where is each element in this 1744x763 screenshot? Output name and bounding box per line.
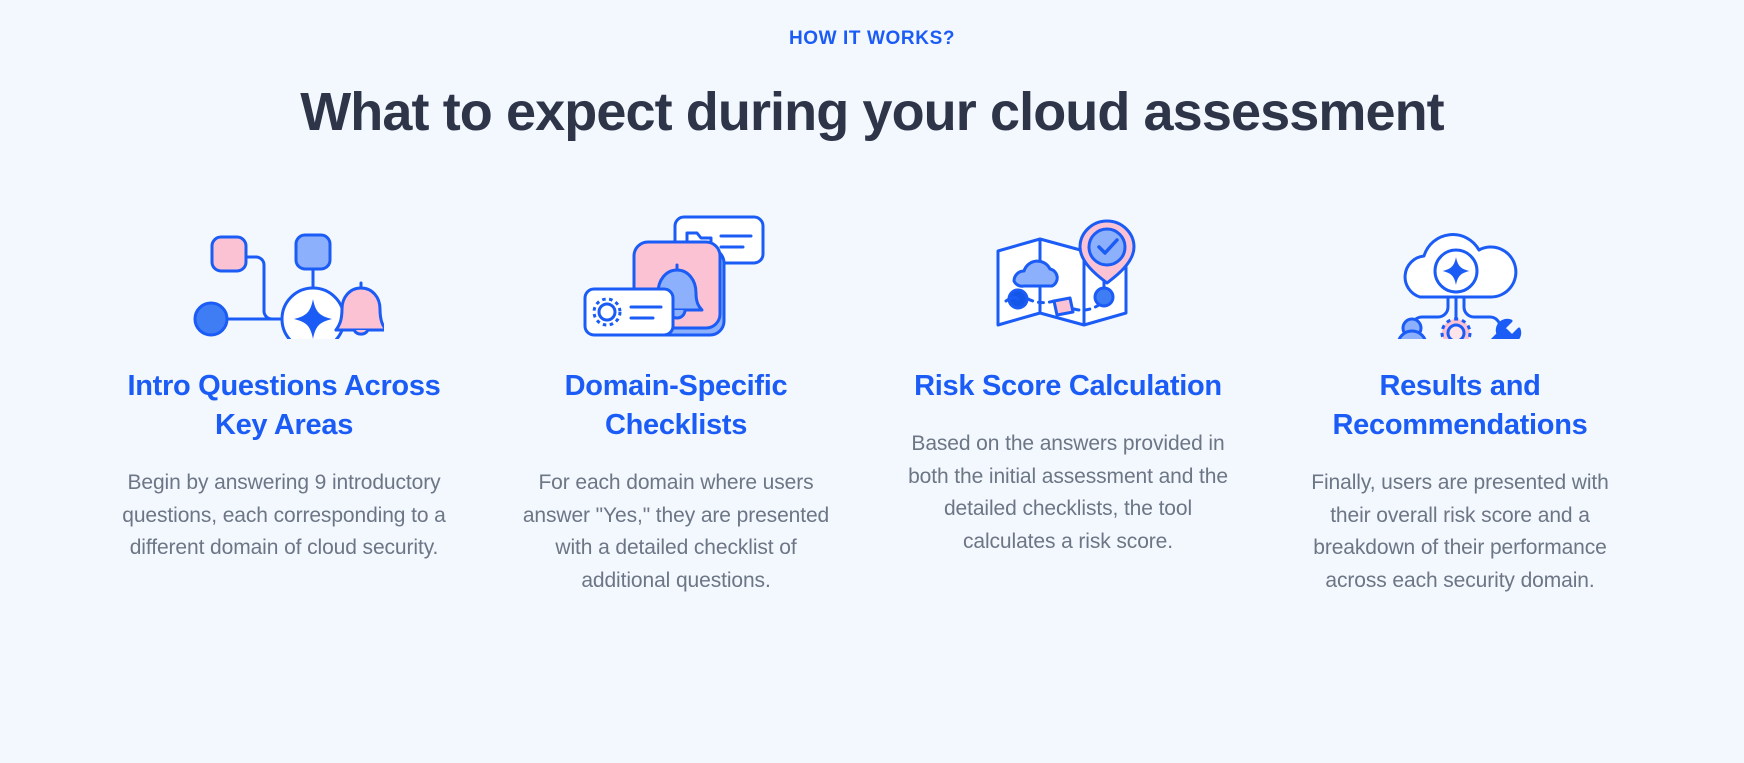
cloud-network-icon bbox=[1298, 199, 1622, 349]
step-body: Begin by answering 9 introductory questi… bbox=[122, 467, 446, 565]
step-body: For each domain where users answer "Yes,… bbox=[514, 467, 838, 597]
folded-map-pin-icon bbox=[906, 199, 1230, 349]
step-title: Risk Score Calculation bbox=[906, 367, 1230, 406]
step-body: Finally, users are presented with their … bbox=[1298, 467, 1622, 597]
step-card-risk-score: Risk Score Calculation Based on the answ… bbox=[872, 199, 1264, 558]
step-body: Based on the answers provided in both th… bbox=[906, 428, 1230, 558]
section-eyebrow: HOW IT WORKS? bbox=[0, 0, 1744, 51]
step-title: Domain-Specific Checklists bbox=[514, 367, 838, 445]
step-card-results: Results and Recommendations Finally, use… bbox=[1264, 199, 1656, 597]
stacked-cards-bell-icon bbox=[514, 199, 838, 349]
step-card-domain-checklists: Domain-Specific Checklists For each doma… bbox=[480, 199, 872, 597]
steps-grid: Intro Questions Across Key Areas Begin b… bbox=[0, 199, 1744, 597]
how-it-works-section: HOW IT WORKS? What to expect during your… bbox=[0, 0, 1744, 763]
step-title: Intro Questions Across Key Areas bbox=[122, 367, 446, 445]
step-title: Results and Recommendations bbox=[1298, 367, 1622, 445]
workflow-nodes-bell-icon bbox=[122, 199, 446, 349]
step-card-intro-questions: Intro Questions Across Key Areas Begin b… bbox=[88, 199, 480, 565]
page-title: What to expect during your cloud assessm… bbox=[0, 81, 1744, 143]
